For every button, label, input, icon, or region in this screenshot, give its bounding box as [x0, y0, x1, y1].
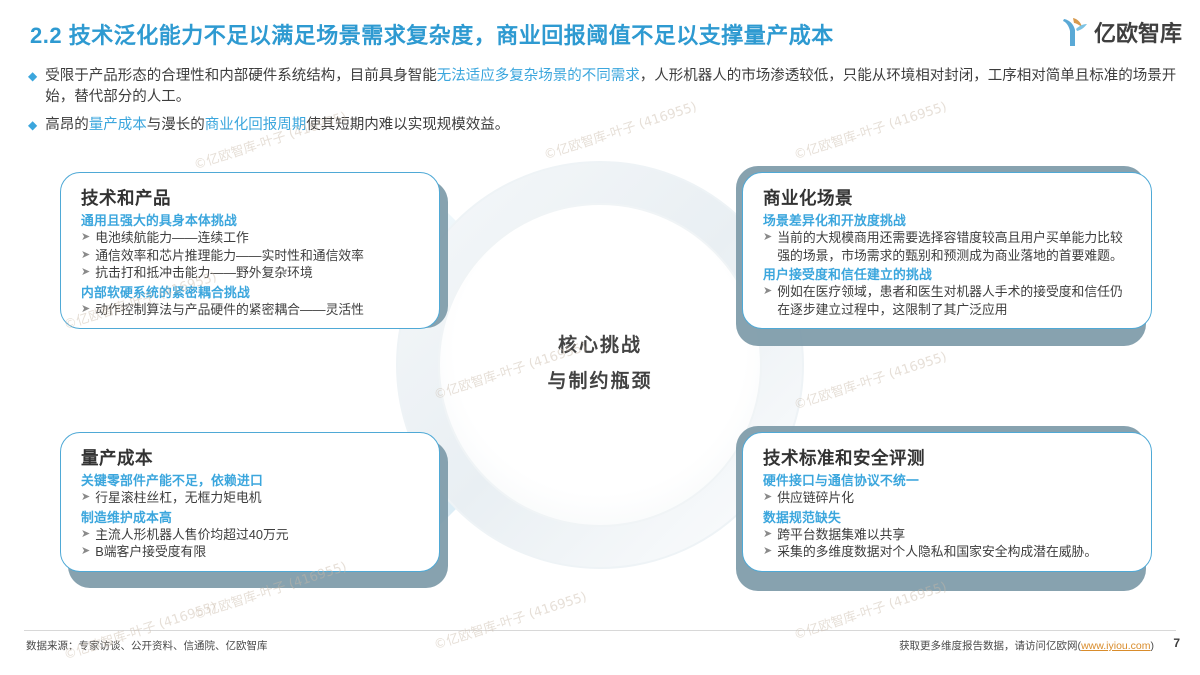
- card-list-item: ➤ 例如在医疗领域，患者和医生对机器人手术的接受度和信任仍在逐步建立过程中，这限…: [763, 283, 1135, 318]
- card-subhead: 场景差异化和开放度挑战: [763, 212, 1135, 229]
- arrow-bullet-icon: ➤: [763, 283, 772, 301]
- card-list-text: 例如在医疗领域，患者和医生对机器人手术的接受度和信任仍在逐步建立过程中，这限制了…: [777, 283, 1135, 318]
- card-subhead: 内部软硬系统的紧密耦合挑战: [81, 284, 423, 301]
- arrow-bullet-icon: ➤: [81, 247, 90, 265]
- card-list-item: ➤ 供应链碎片化: [763, 489, 1135, 507]
- arrow-bullet-icon: ➤: [81, 264, 90, 282]
- card-list-item: ➤ 动作控制算法与产品硬件的紧密耦合——灵活性: [81, 301, 423, 319]
- intro-bullet-2: ◆ 高昂的量产成本与漫长的商业化回报周期使其短期内难以实现规模效益。: [28, 115, 1178, 136]
- card-list-text: 主流人形机器人售价均超过40万元: [95, 526, 423, 544]
- card-list-item: ➤ 采集的多维度数据对个人隐私和国家安全构成潜在威胁。: [763, 543, 1135, 561]
- card-subhead: 数据规范缺失: [763, 509, 1135, 526]
- card-subhead: 硬件接口与通信协议不统一: [763, 472, 1135, 489]
- core-challenge-diagram: 核心挑战 与制约瓶颈 技术和产品 通用且强大的具身本体挑战 ➤ 电池续航能力——…: [0, 150, 1200, 620]
- card-title: 量产成本: [81, 445, 423, 470]
- card-tech-and-product[interactable]: 技术和产品 通用且强大的具身本体挑战 ➤ 电池续航能力——连续工作 ➤ 通信效率…: [60, 172, 440, 329]
- card-list-text: 供应链碎片化: [777, 489, 1135, 507]
- card-mass-production-cost[interactable]: 量产成本 关键零部件产能不足，依赖进口 ➤ 行星滚柱丝杠，无框力矩电机 制造维护…: [60, 432, 440, 572]
- intro-seg: 高昂的: [45, 117, 89, 133]
- footer-source: 数据来源：专家访谈、公开资料、信通院、亿欧智库: [26, 638, 268, 653]
- card-list-text: B端客户接受度有限: [95, 543, 423, 561]
- card-subhead: 关键零部件产能不足，依赖进口: [81, 472, 423, 489]
- footer-divider: [24, 630, 1176, 631]
- card-list-text: 跨平台数据集难以共享: [777, 526, 1135, 544]
- card-list-text: 通信效率和芯片推理能力——实时性和通信效率: [95, 247, 423, 265]
- page-title: 2.2 技术泛化能力不足以满足场景需求复杂度，商业回报阈值不足以支撑量产成本: [30, 18, 834, 50]
- card-list-item: ➤ 电池续航能力——连续工作: [81, 229, 423, 247]
- diamond-bullet-icon: ◆: [28, 66, 37, 86]
- intro-bullet-1: ◆ 受限于产品形态的合理性和内部硬件系统结构，目前具身智能无法适应多复杂场景的不…: [28, 66, 1178, 108]
- card-list-text: 动作控制算法与产品硬件的紧密耦合——灵活性: [95, 301, 423, 319]
- intro-seg: 受限于产品形态的合理性和内部硬件系统结构，目前具身智能: [45, 68, 437, 84]
- page-header: 2.2 技术泛化能力不足以满足场景需求复杂度，商业回报阈值不足以支撑量产成本 亿…: [0, 0, 1200, 62]
- intro-text-2: 高昂的量产成本与漫长的商业化回报周期使其短期内难以实现规模效益。: [45, 115, 509, 136]
- card-list-item: ➤ 通信效率和芯片推理能力——实时性和通信效率: [81, 247, 423, 265]
- center-label: 核心挑战 与制约瓶颈: [478, 328, 722, 400]
- diamond-bullet-icon: ◆: [28, 115, 37, 135]
- card-list-item: ➤ 行星滚柱丝杠，无框力矩电机: [81, 489, 423, 507]
- intro-text-1: 受限于产品形态的合理性和内部硬件系统结构，目前具身智能无法适应多复杂场景的不同需…: [45, 66, 1178, 108]
- card-list-text: 行星滚柱丝杠，无框力矩电机: [95, 489, 423, 507]
- intro-seg: 使其短期内难以实现规模效益。: [306, 117, 509, 133]
- iyiou-website-link[interactable]: www.iyiou.com: [1081, 640, 1150, 652]
- brand-logo: 亿欧智库: [1060, 16, 1182, 48]
- card-list-text: 采集的多维度数据对个人隐私和国家安全构成潜在威胁。: [777, 543, 1135, 561]
- intro-highlight: 无法适应多复杂场景的不同需求: [437, 68, 640, 84]
- arrow-bullet-icon: ➤: [763, 229, 772, 247]
- footer-note-prefix: 获取更多维度报告数据，请访问亿欧网(: [899, 640, 1081, 652]
- intro-seg: 与漫长的: [147, 117, 205, 133]
- card-subhead: 通用且强大的具身本体挑战: [81, 212, 423, 229]
- intro-highlight: 量产成本: [89, 117, 147, 133]
- card-subhead: 用户接受度和信任建立的挑战: [763, 266, 1135, 283]
- arrow-bullet-icon: ➤: [81, 526, 90, 544]
- card-technical-standards-and-safety[interactable]: 技术标准和安全评测 硬件接口与通信协议不统一 ➤ 供应链碎片化 数据规范缺失 ➤…: [742, 432, 1152, 572]
- card-list-text: 电池续航能力——连续工作: [95, 229, 423, 247]
- footer-note: 获取更多维度报告数据，请访问亿欧网(www.iyiou.com): [899, 638, 1154, 653]
- arrow-bullet-icon: ➤: [81, 229, 90, 247]
- card-list-item: ➤ 抗击打和抵冲击能力——野外复杂环境: [81, 264, 423, 282]
- card-title: 技术标准和安全评测: [763, 445, 1135, 470]
- logo-text: 亿欧智库: [1094, 16, 1182, 48]
- arrow-bullet-icon: ➤: [763, 526, 772, 544]
- card-commercialization-scenarios[interactable]: 商业化场景 场景差异化和开放度挑战 ➤ 当前的大规模商用还需要选择容错度较高且用…: [742, 172, 1152, 329]
- center-label-line2: 与制约瓶颈: [478, 364, 722, 400]
- card-list-item: ➤ 跨平台数据集难以共享: [763, 526, 1135, 544]
- arrow-bullet-icon: ➤: [81, 301, 90, 319]
- card-subhead: 制造维护成本高: [81, 509, 423, 526]
- arrow-bullet-icon: ➤: [81, 543, 90, 561]
- card-list-item: ➤ 主流人形机器人售价均超过40万元: [81, 526, 423, 544]
- intro-highlight: 商业化回报周期: [205, 117, 307, 133]
- arrow-bullet-icon: ➤: [81, 489, 90, 507]
- arrow-bullet-icon: ➤: [763, 543, 772, 561]
- yiou-leaf-logo-icon: [1060, 16, 1090, 48]
- arrow-bullet-icon: ➤: [763, 489, 772, 507]
- footer-note-suffix: ): [1151, 640, 1155, 652]
- card-title: 商业化场景: [763, 185, 1135, 210]
- card-title: 技术和产品: [81, 185, 423, 210]
- card-list-item: ➤ B端客户接受度有限: [81, 543, 423, 561]
- page-number: 7: [1173, 636, 1180, 650]
- card-list-item: ➤ 当前的大规模商用还需要选择容错度较高且用户买单能力比较强的场景，市场需求的甄…: [763, 229, 1135, 264]
- card-list-text: 抗击打和抵冲击能力——野外复杂环境: [95, 264, 423, 282]
- card-list-text: 当前的大规模商用还需要选择容错度较高且用户买单能力比较强的场景，市场需求的甄别和…: [777, 229, 1135, 264]
- center-label-line1: 核心挑战: [478, 328, 722, 364]
- intro-bullet-list: ◆ 受限于产品形态的合理性和内部硬件系统结构，目前具身智能无法适应多复杂场景的不…: [28, 66, 1178, 143]
